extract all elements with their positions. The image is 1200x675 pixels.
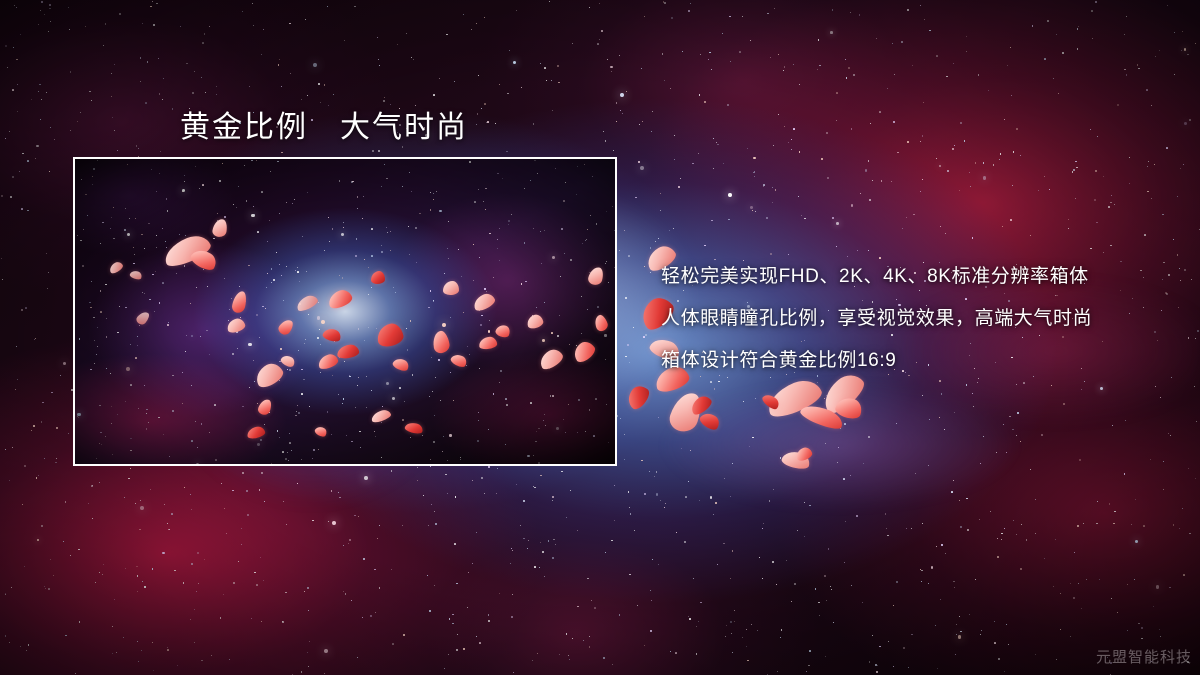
body-line-2: 人体眼睛瞳孔比例，享受视觉效果，高端大气时尚 (661, 298, 1161, 340)
presentation-slide: 黄金比例 大气时尚 轻松完美实现FHD、2K、4K、8K标准分辨率箱体 人体眼睛… (0, 0, 1200, 675)
body-copy: 轻松完美实现FHD、2K、4K、8K标准分辨率箱体 人体眼睛瞳孔比例，享受视觉效… (661, 256, 1161, 382)
body-line-3: 箱体设计符合黄金比例16:9 (661, 340, 1161, 382)
watermark: 元盟智能科技 (1096, 646, 1192, 667)
page-title: 黄金比例 大气时尚 (180, 102, 468, 146)
body-line-1: 轻松完美实现FHD、2K、4K、8K标准分辨率箱体 (661, 256, 1161, 298)
picture-vignette (75, 159, 615, 464)
framed-picture[interactable] (73, 157, 617, 466)
